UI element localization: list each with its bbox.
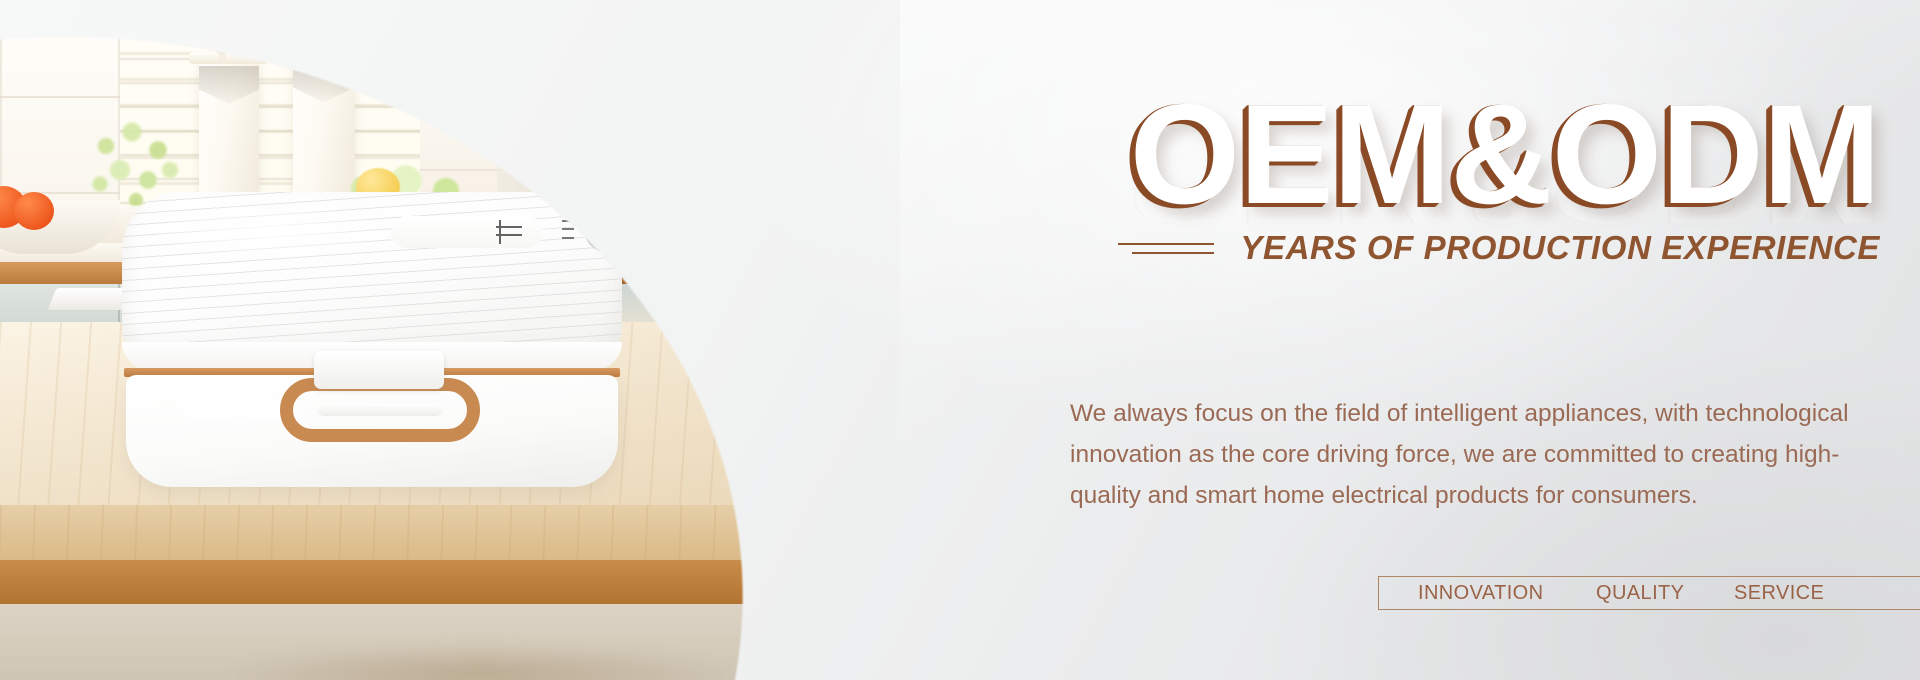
description-paragraph: We always focus on the field of intellig… [1070, 393, 1860, 516]
hero-title: OEM&ODM [860, 84, 1920, 226]
tag-list: INNOVATION QUALITY SERVICE [1378, 576, 1920, 610]
oem-odm-banner: OEM&ODM OEM&ODM YEARS OF PRODUCTION EXPE… [0, 0, 1920, 680]
tag-quality: QUALITY [1596, 582, 1734, 605]
subtitle-row: YEARS OF PRODUCTION EXPERIENCE [900, 226, 1920, 270]
tag-innovation: INNOVATION [1418, 582, 1596, 605]
subtitle-text: YEARS OF PRODUCTION EXPERIENCE [1240, 229, 1880, 267]
banner-content: OEM&ODM OEM&ODM YEARS OF PRODUCTION EXPE… [0, 0, 1920, 680]
double-dash-icon [1118, 243, 1214, 254]
tag-service: SERVICE [1734, 582, 1854, 605]
